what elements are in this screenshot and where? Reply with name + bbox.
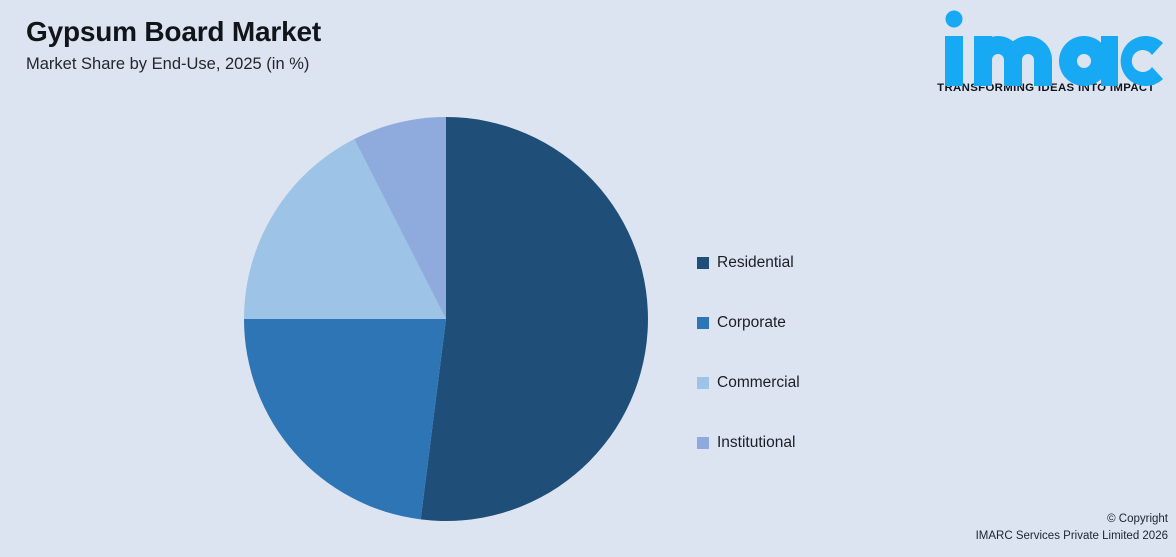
legend-swatch-icon <box>697 377 709 389</box>
imarc-wordmark-icon <box>927 10 1165 88</box>
legend-swatch-icon <box>697 437 709 449</box>
page-title: Gypsum Board Market <box>26 16 626 48</box>
logo-mark <box>927 10 1165 86</box>
legend-swatch-icon <box>697 257 709 269</box>
chart-legend: Residential Corporate Commercial Institu… <box>697 233 937 473</box>
legend-item-label: Residential <box>717 255 794 271</box>
pie-slices <box>244 117 648 521</box>
copyright-line-2: IMARC Services Private Limited 2026 <box>868 528 1168 545</box>
legend-swatch-icon <box>697 317 709 329</box>
chart-header: Gypsum Board Market Market Share by End-… <box>26 16 626 75</box>
legend-item-label: Corporate <box>717 315 786 331</box>
legend-item-residential[interactable]: Residential <box>697 233 937 293</box>
legend-item-institutional[interactable]: Institutional <box>697 413 937 473</box>
legend-item-corporate[interactable]: Corporate <box>697 293 937 353</box>
imarc-logo: TRANSFORMING IDEAS INTO IMPACT <box>924 10 1168 94</box>
chart-subtitle: Market Share by End-Use, 2025 (in %) <box>26 55 626 75</box>
legend-item-label: Commercial <box>717 375 800 391</box>
pie-chart-svg <box>244 117 648 521</box>
pie-slice-corporate[interactable] <box>244 319 446 519</box>
copyright-footer: © Copyright IMARC Services Private Limit… <box>868 511 1168 546</box>
pie-slice-residential[interactable] <box>421 117 648 521</box>
copyright-line-1: © Copyright <box>868 511 1168 528</box>
legend-item-label: Institutional <box>717 435 795 451</box>
pie-chart <box>244 117 648 521</box>
legend-item-commercial[interactable]: Commercial <box>697 353 937 413</box>
chart-canvas: Gypsum Board Market Market Share by End-… <box>0 0 1176 557</box>
